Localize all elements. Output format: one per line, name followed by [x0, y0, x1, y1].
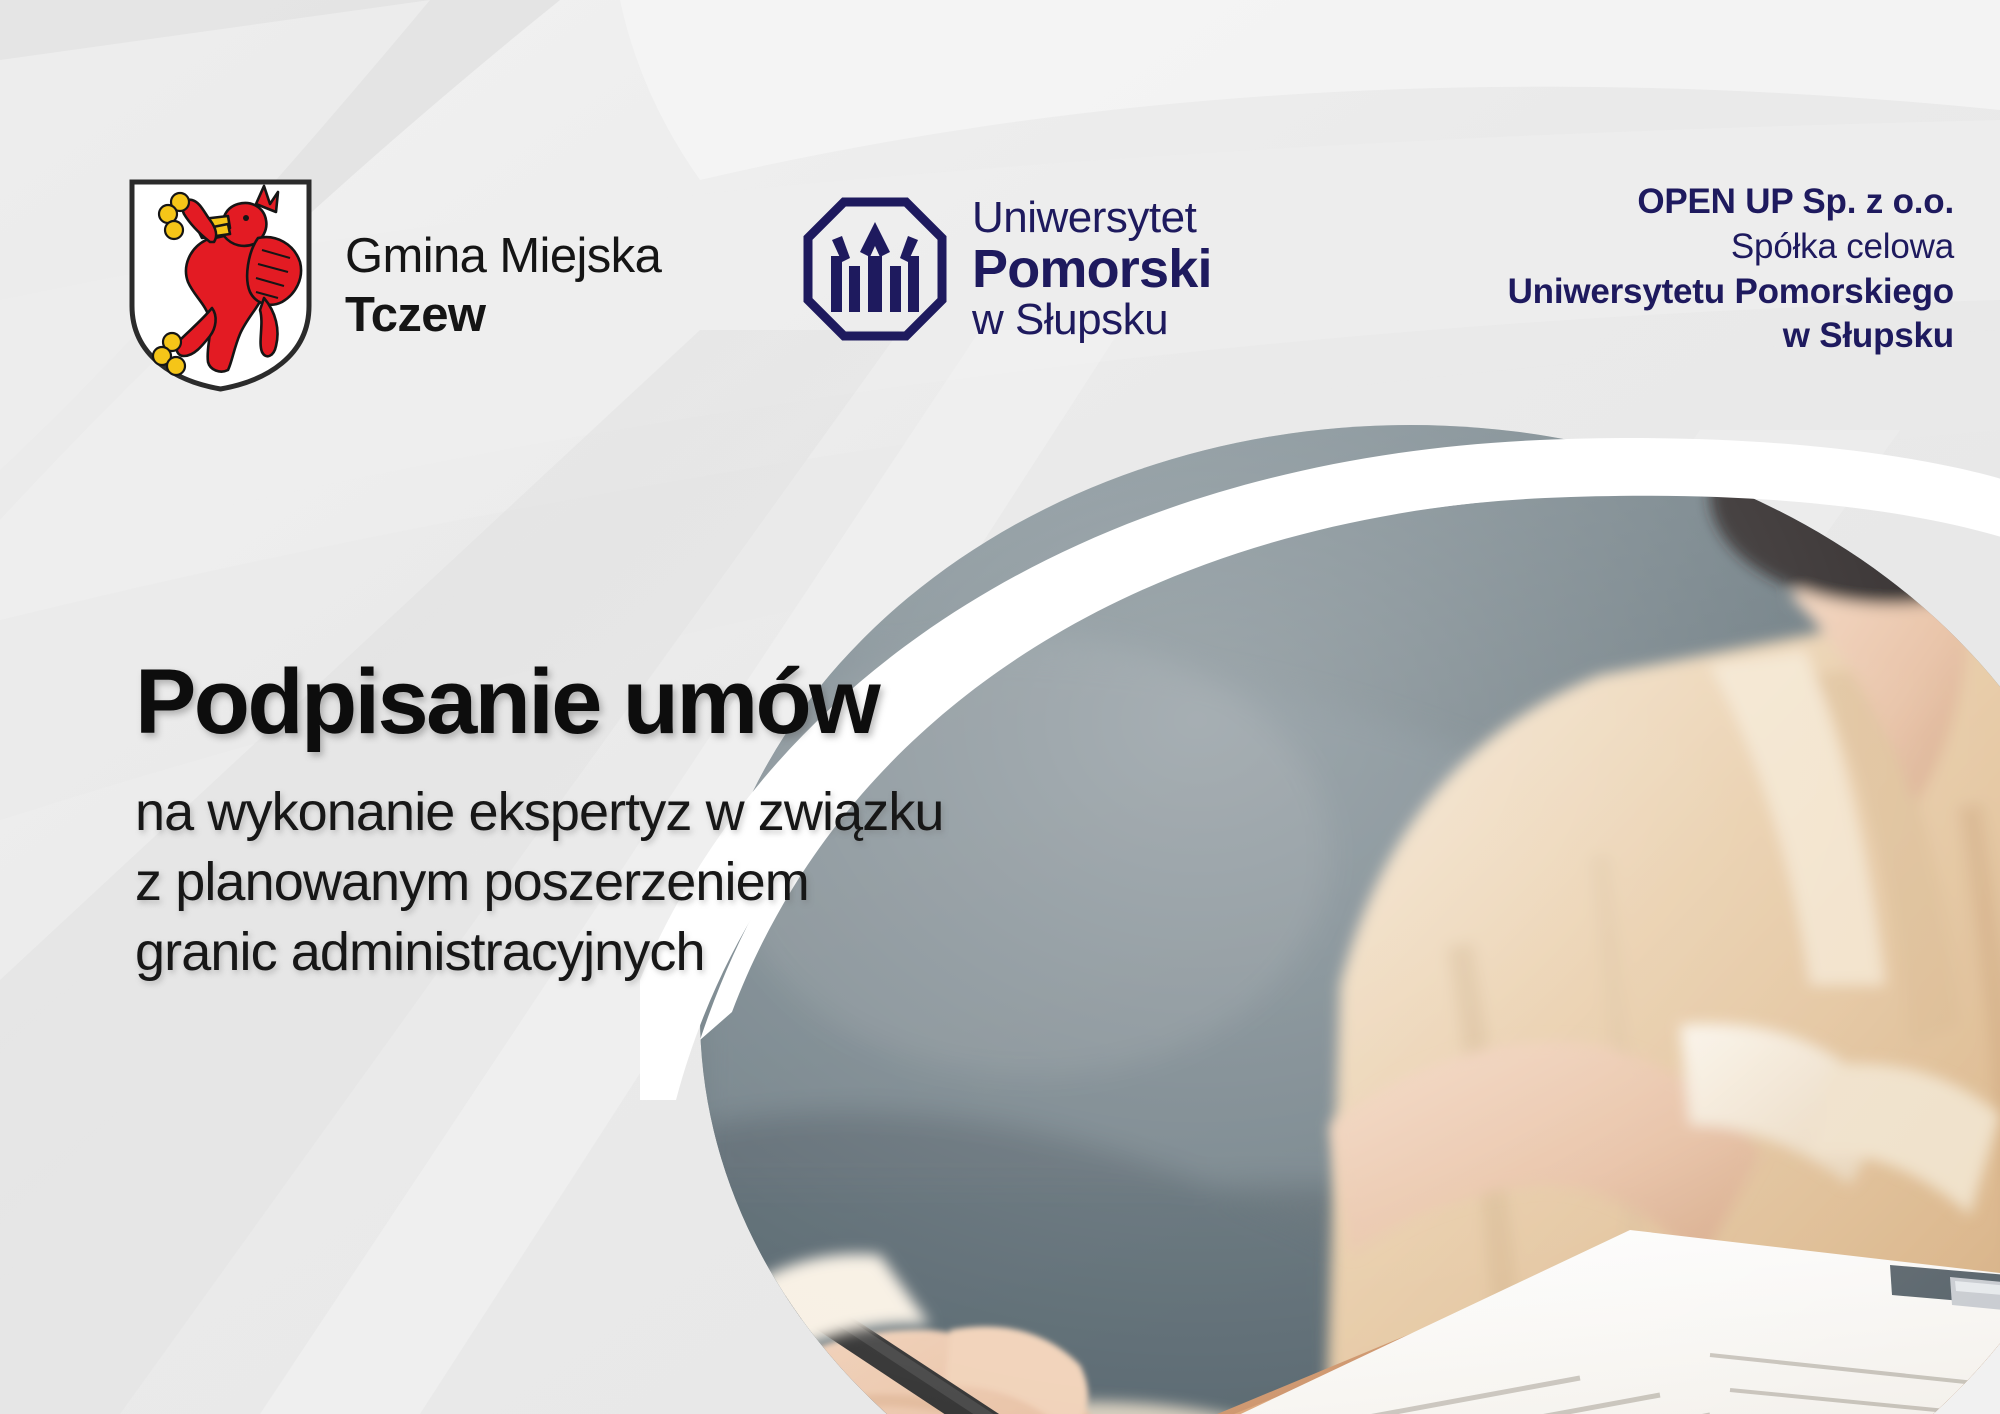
uniwersytet-pomorski-octagon-icon [800, 194, 950, 344]
municipality-logo-block: Gmina Miejska Tczew [128, 178, 661, 393]
company-line-3: Uniwersytetu Pomorskiego [1508, 270, 1954, 315]
partner-logos-header: Gmina Miejska Tczew Uniwersytet [0, 168, 2000, 358]
municipality-line-2: Tczew [345, 288, 661, 343]
university-line-1: Uniwersytet [972, 196, 1212, 240]
page-title: Podpisanie umów [135, 655, 1135, 751]
municipality-line-1: Gmina Miejska [345, 229, 661, 284]
university-line-3: w Słupsku [972, 298, 1212, 342]
poster-canvas: Gmina Miejska Tczew Uniwersytet [0, 0, 2000, 1414]
company-line-4: w Słupsku [1508, 314, 1954, 359]
university-line-2: Pomorski [972, 242, 1212, 296]
company-line-1: OPEN UP Sp. z o.o. [1508, 180, 1954, 225]
company-line-2: Spółka celowa [1508, 225, 1954, 270]
company-text-block: OPEN UP Sp. z o.o. Spółka celowa Uniwers… [1508, 180, 1954, 359]
subtitle-line-1: na wykonanie ekspertyz w związku [135, 777, 1135, 847]
tczew-griffin-crest-icon [128, 178, 313, 393]
university-logo-block: Uniwersytet Pomorski w Słupsku [800, 194, 1212, 344]
subtitle-line-2: z planowanym poszerzeniem [135, 847, 1135, 917]
main-copy-block: Podpisanie umów na wykonanie ekspertyz w… [135, 655, 1135, 987]
subtitle-line-3: granic administracyjnych [135, 917, 1135, 987]
